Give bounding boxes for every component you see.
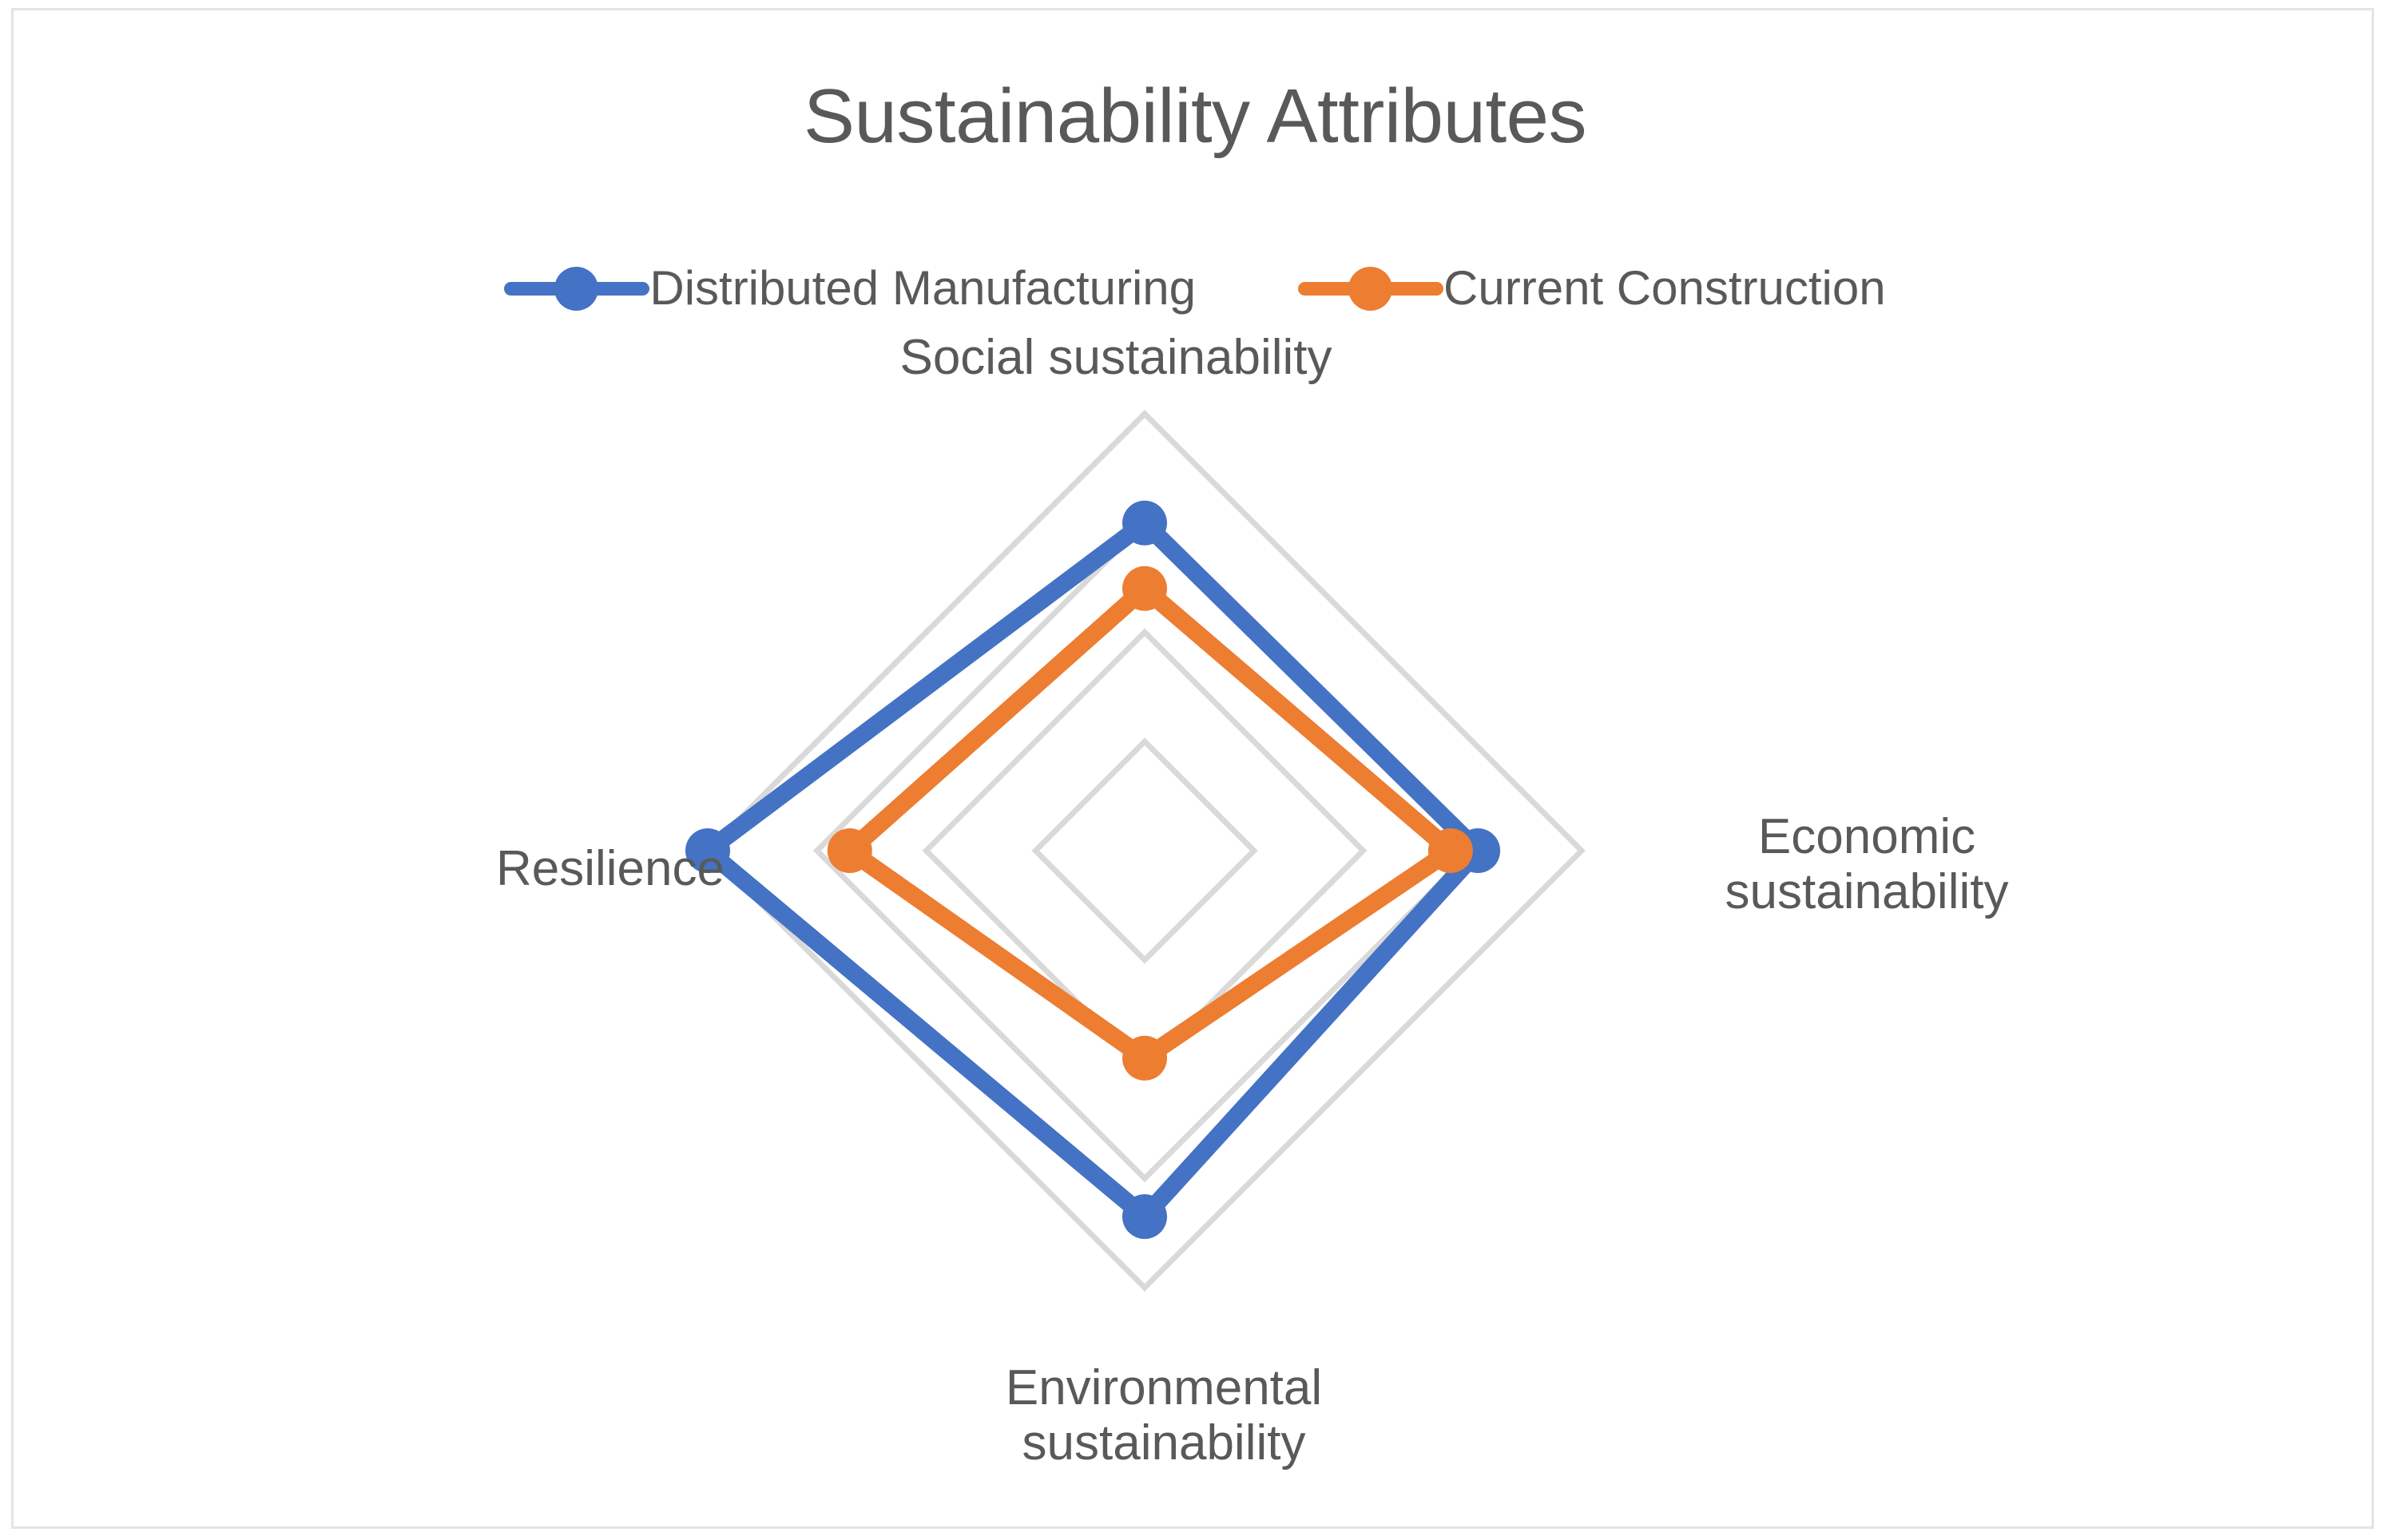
data-point-marker[interactable] — [1122, 1194, 1167, 1239]
axis-label-economic-sustainability: Economic sustainability — [1603, 809, 2130, 920]
radar-plot — [14, 10, 2376, 1531]
axis-label-environmental-sustainability: Environmental sustainability — [884, 1360, 1443, 1471]
gridline-ring-2 — [927, 633, 1364, 1070]
chart-page: Sustainability Attributes Distributed Ma… — [0, 0, 2386, 1540]
axis-label-social-sustainability: Social sustainability — [796, 330, 1435, 385]
data-point-marker[interactable] — [1122, 1036, 1167, 1081]
data-point-marker[interactable] — [1122, 566, 1167, 611]
gridline-ring-1 — [1035, 741, 1254, 960]
data-point-marker[interactable] — [1122, 501, 1167, 546]
axis-label-resilience: Resilience — [277, 841, 725, 896]
data-point-marker[interactable] — [1428, 828, 1473, 873]
data-point-marker[interactable] — [828, 828, 872, 873]
chart-frame: Sustainability Attributes Distributed Ma… — [11, 8, 2374, 1529]
